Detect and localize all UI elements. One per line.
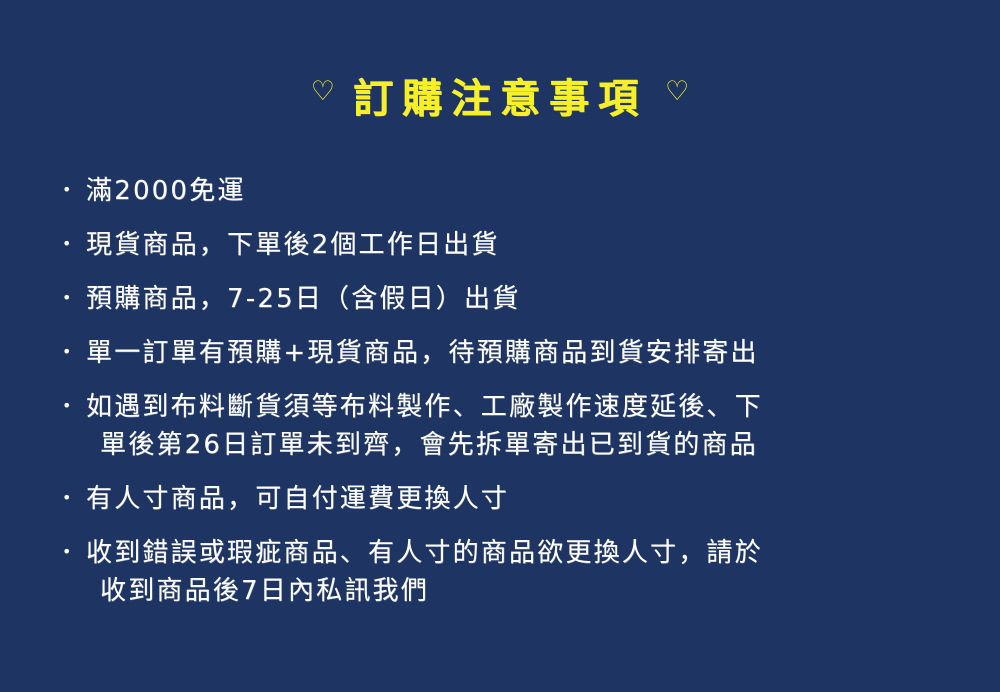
list-item-line2: 單後第26日訂單未到齊，會先拆單寄出已到貨的商品 (100, 426, 763, 464)
list-item-text: 滿2000免運 (86, 172, 246, 210)
list-item: • 有人寸商品，可自付運費更換人寸 (62, 480, 957, 518)
list-item-line1: 如遇到布料斷貨須等布料製作、工廠製作速度延後、下 (86, 392, 763, 422)
heart-icon-left: ♡ (311, 78, 335, 105)
bullet-icon: • (62, 479, 86, 517)
list-item-text: 有人寸商品，可自付運費更換人寸 (86, 480, 509, 518)
bullet-icon: • (62, 387, 86, 425)
list-item-text: 單一訂單有預購+現貨商品，待預購商品到貨安排寄出 (86, 334, 759, 372)
list-item: • 滿2000免運 (62, 172, 957, 210)
bullet-icon: • (62, 171, 86, 209)
page-title: ♡ 訂購注意事項 ♡ (0, 66, 1000, 124)
heart-icon-right: ♡ (665, 78, 689, 105)
list-item: • 單一訂單有預購+現貨商品，待預購商品到貨安排寄出 (62, 334, 957, 372)
list-item: • 收到錯誤或瑕疵商品、有人寸的商品欲更換人寸，請於收到商品後7日內私訊我們 (62, 534, 957, 610)
list-item: • 預購商品，7-25日（含假日）出貨 (62, 280, 957, 318)
page-title-text: 訂購注意事項 (353, 66, 647, 124)
bullet-icon: • (62, 533, 86, 571)
list-item: • 現貨商品，下單後2個工作日出貨 (62, 226, 957, 264)
list-item-text: 現貨商品，下單後2個工作日出貨 (86, 226, 500, 264)
notice-page: ♡ 訂購注意事項 ♡ • 滿2000免運 • 現貨商品，下單後2個工作日出貨 •… (0, 0, 1000, 692)
bullet-icon: • (62, 279, 86, 317)
list-item-line1: 收到錯誤或瑕疵商品、有人寸的商品欲更換人寸，請於 (86, 538, 763, 568)
list-item: • 如遇到布料斷貨須等布料製作、工廠製作速度延後、下單後第26日訂單未到齊，會先… (62, 388, 957, 464)
bullet-icon: • (62, 225, 86, 263)
list-item-line2: 收到商品後7日內私訊我們 (100, 572, 763, 610)
bullet-icon: • (62, 333, 86, 371)
list-item-text: 如遇到布料斷貨須等布料製作、工廠製作速度延後、下單後第26日訂單未到齊，會先拆單… (86, 388, 763, 464)
list-item-text: 收到錯誤或瑕疵商品、有人寸的商品欲更換人寸，請於收到商品後7日內私訊我們 (86, 534, 763, 610)
notice-list: • 滿2000免運 • 現貨商品，下單後2個工作日出貨 • 預購商品，7-25日… (62, 172, 957, 626)
list-item-text: 預購商品，7-25日（含假日）出貨 (86, 280, 520, 318)
